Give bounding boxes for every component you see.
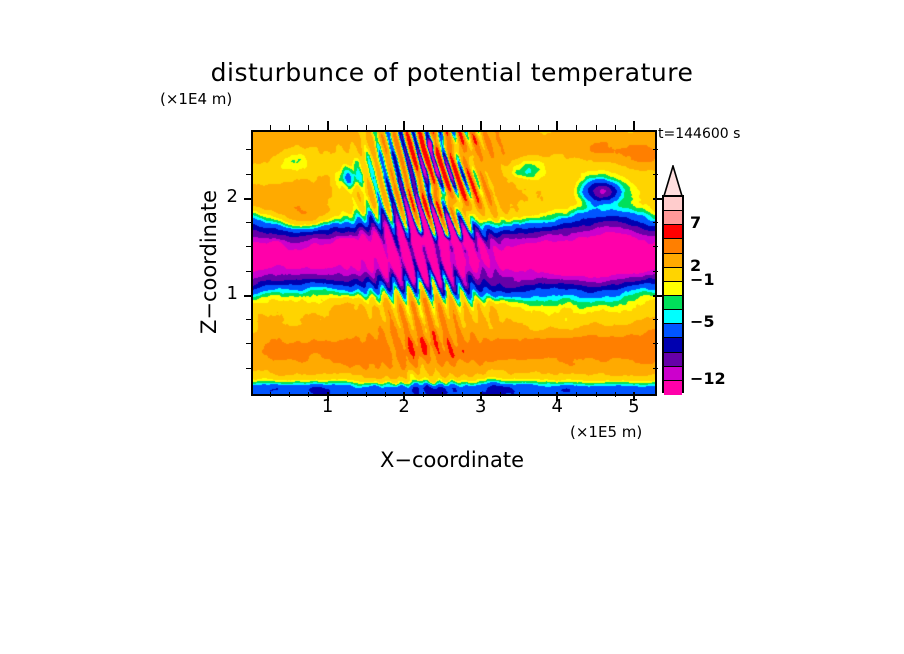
x-tick-label: 2 [389,396,419,417]
y-axis-minor-tick [653,149,658,150]
colorbar-segment [664,282,682,296]
x-axis-minor-tick [347,392,348,397]
y-tick-label: 1 [218,283,238,304]
x-axis-units-label: (×1E5 m) [570,423,642,441]
y-axis-title: Z−coordinate [197,190,221,334]
colorbar-segment [664,296,682,310]
x-axis-major-tick [327,121,329,130]
x-axis-minor-tick [289,392,290,397]
x-tick-label: 1 [313,396,343,417]
x-axis-minor-tick [462,392,463,397]
y-axis-minor-tick [246,319,251,320]
x-axis-minor-tick [596,125,597,130]
y-axis-minor-tick [653,222,658,223]
x-axis-minor-tick [462,125,463,130]
x-axis-minor-tick [442,125,443,130]
x-axis-minor-tick [270,392,271,397]
x-axis-minor-tick [289,125,290,130]
x-axis-minor-tick [500,392,501,397]
colorbar-arrow-tip [662,165,684,197]
colorbar-segment [664,239,682,253]
colorbar-segment [664,353,682,367]
x-axis-minor-tick [442,392,443,397]
colorbar-tick-label: −5 [690,312,715,331]
colorbar-segment [664,324,682,338]
colorbar-segments [662,195,684,393]
x-axis-minor-tick [615,125,616,130]
x-axis-minor-tick [308,125,309,130]
x-tick-label: 3 [466,396,496,417]
contour-plot-area [251,130,657,396]
y-axis-minor-tick [653,368,658,369]
colorbar [662,165,684,393]
y-axis-major-tick [653,198,662,200]
x-axis-minor-tick [347,125,348,130]
colorbar-segment [664,367,682,381]
time-stamp-annotation: t=144600 s [658,126,740,142]
colorbar-segment [664,211,682,225]
x-axis-minor-tick [385,392,386,397]
x-axis-major-tick [556,121,558,130]
title-units-label: (×1E4 m) [160,90,232,108]
x-axis-minor-tick [385,125,386,130]
y-axis-minor-tick [653,319,658,320]
x-axis-minor-tick [270,125,271,130]
x-axis-major-tick [403,121,405,130]
colorbar-segment [664,310,682,324]
x-axis-minor-tick [596,392,597,397]
x-axis-major-tick [633,121,635,130]
x-axis-minor-tick [615,392,616,397]
y-axis-major-tick [653,295,662,297]
x-tick-label: 4 [542,396,572,417]
colorbar-segment [664,197,682,211]
y-axis-minor-tick [246,246,251,247]
colorbar-segment [664,268,682,282]
y-axis-minor-tick [246,222,251,223]
x-axis-minor-tick [576,392,577,397]
y-axis-minor-tick [246,368,251,369]
colorbar-segment [664,381,682,395]
y-axis-minor-tick [246,174,251,175]
y-axis-minor-tick [246,343,251,344]
x-axis-minor-tick [538,125,539,130]
x-axis-minor-tick [538,392,539,397]
colorbar-tick-label: −1 [690,270,715,289]
y-axis-minor-tick [653,271,658,272]
x-axis-minor-tick [500,125,501,130]
x-tick-label: 5 [619,396,649,417]
y-axis-minor-tick [653,174,658,175]
x-axis-minor-tick [576,125,577,130]
x-axis-minor-tick [519,392,520,397]
colorbar-segment [664,254,682,268]
figure-root: disturbunce of potential temperature (×1… [0,0,904,654]
x-axis-title: X−coordinate [0,448,904,472]
x-axis-minor-tick [519,125,520,130]
x-axis-major-tick [480,121,482,130]
y-axis-minor-tick [653,343,658,344]
x-axis-minor-tick [366,125,367,130]
colorbar-tick-label: −12 [690,369,726,388]
y-axis-minor-tick [246,271,251,272]
y-tick-label: 2 [218,186,238,207]
colorbar-tick-label: 7 [690,213,701,232]
x-axis-minor-tick [423,125,424,130]
y-axis-minor-tick [246,149,251,150]
y-axis-major-tick [244,295,253,297]
colorbar-segment [664,338,682,352]
x-axis-minor-tick [366,392,367,397]
page-title: disturbunce of potential temperature [0,58,904,87]
x-axis-minor-tick [308,392,309,397]
y-axis-major-tick [244,198,253,200]
x-axis-minor-tick [423,392,424,397]
y-axis-minor-tick [653,246,658,247]
contour-canvas [253,132,655,394]
colorbar-segment [664,225,682,239]
